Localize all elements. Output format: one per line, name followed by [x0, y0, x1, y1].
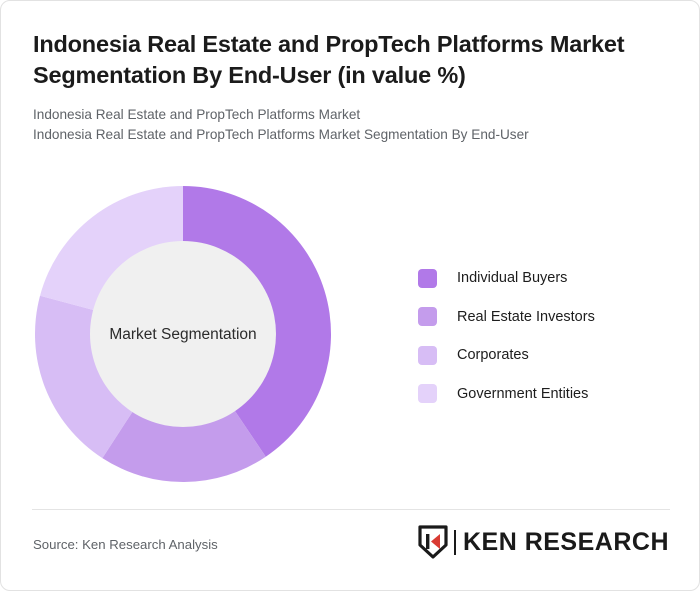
- legend-item[interactable]: Corporates: [418, 336, 668, 375]
- subtitle-line-2: Indonesia Real Estate and PropTech Platf…: [33, 125, 669, 145]
- legend-label: Government Entities: [457, 386, 588, 402]
- legend-label: Individual Buyers: [457, 270, 567, 286]
- legend-item[interactable]: Government Entities: [418, 375, 668, 414]
- legend-swatch-icon: [418, 346, 437, 365]
- legend-label: Real Estate Investors: [457, 309, 595, 325]
- subtitle-group: Indonesia Real Estate and PropTech Platf…: [33, 105, 669, 145]
- legend-swatch-icon: [418, 307, 437, 326]
- donut-center-label: Market Segmentation: [109, 326, 256, 343]
- legend-label: Corporates: [457, 347, 529, 363]
- chart-card: Indonesia Real Estate and PropTech Platf…: [0, 0, 700, 591]
- page-title: Indonesia Real Estate and PropTech Platf…: [33, 29, 669, 91]
- ken-research-logo: KEN RESEARCH: [418, 524, 669, 560]
- logo-separator: [454, 530, 456, 555]
- legend-item[interactable]: Real Estate Investors: [418, 298, 668, 337]
- source-note: Source: Ken Research Analysis: [33, 537, 218, 552]
- legend-swatch-icon: [418, 384, 437, 403]
- chart-legend: Individual BuyersReal Estate InvestorsCo…: [418, 259, 668, 413]
- legend-item[interactable]: Individual Buyers: [418, 259, 668, 298]
- logo-wordmark: KEN RESEARCH: [463, 530, 669, 555]
- subtitle-line-1: Indonesia Real Estate and PropTech Platf…: [33, 105, 669, 125]
- plot-area: Market Segmentation Individual BuyersRea…: [1, 171, 700, 501]
- donut-chart: Market Segmentation: [33, 184, 333, 484]
- footer-divider: [32, 509, 670, 510]
- ken-shield-k-icon: [418, 525, 448, 559]
- legend-swatch-icon: [418, 269, 437, 288]
- donut-svg: Market Segmentation: [33, 184, 333, 484]
- chart-header: Indonesia Real Estate and PropTech Platf…: [33, 29, 669, 145]
